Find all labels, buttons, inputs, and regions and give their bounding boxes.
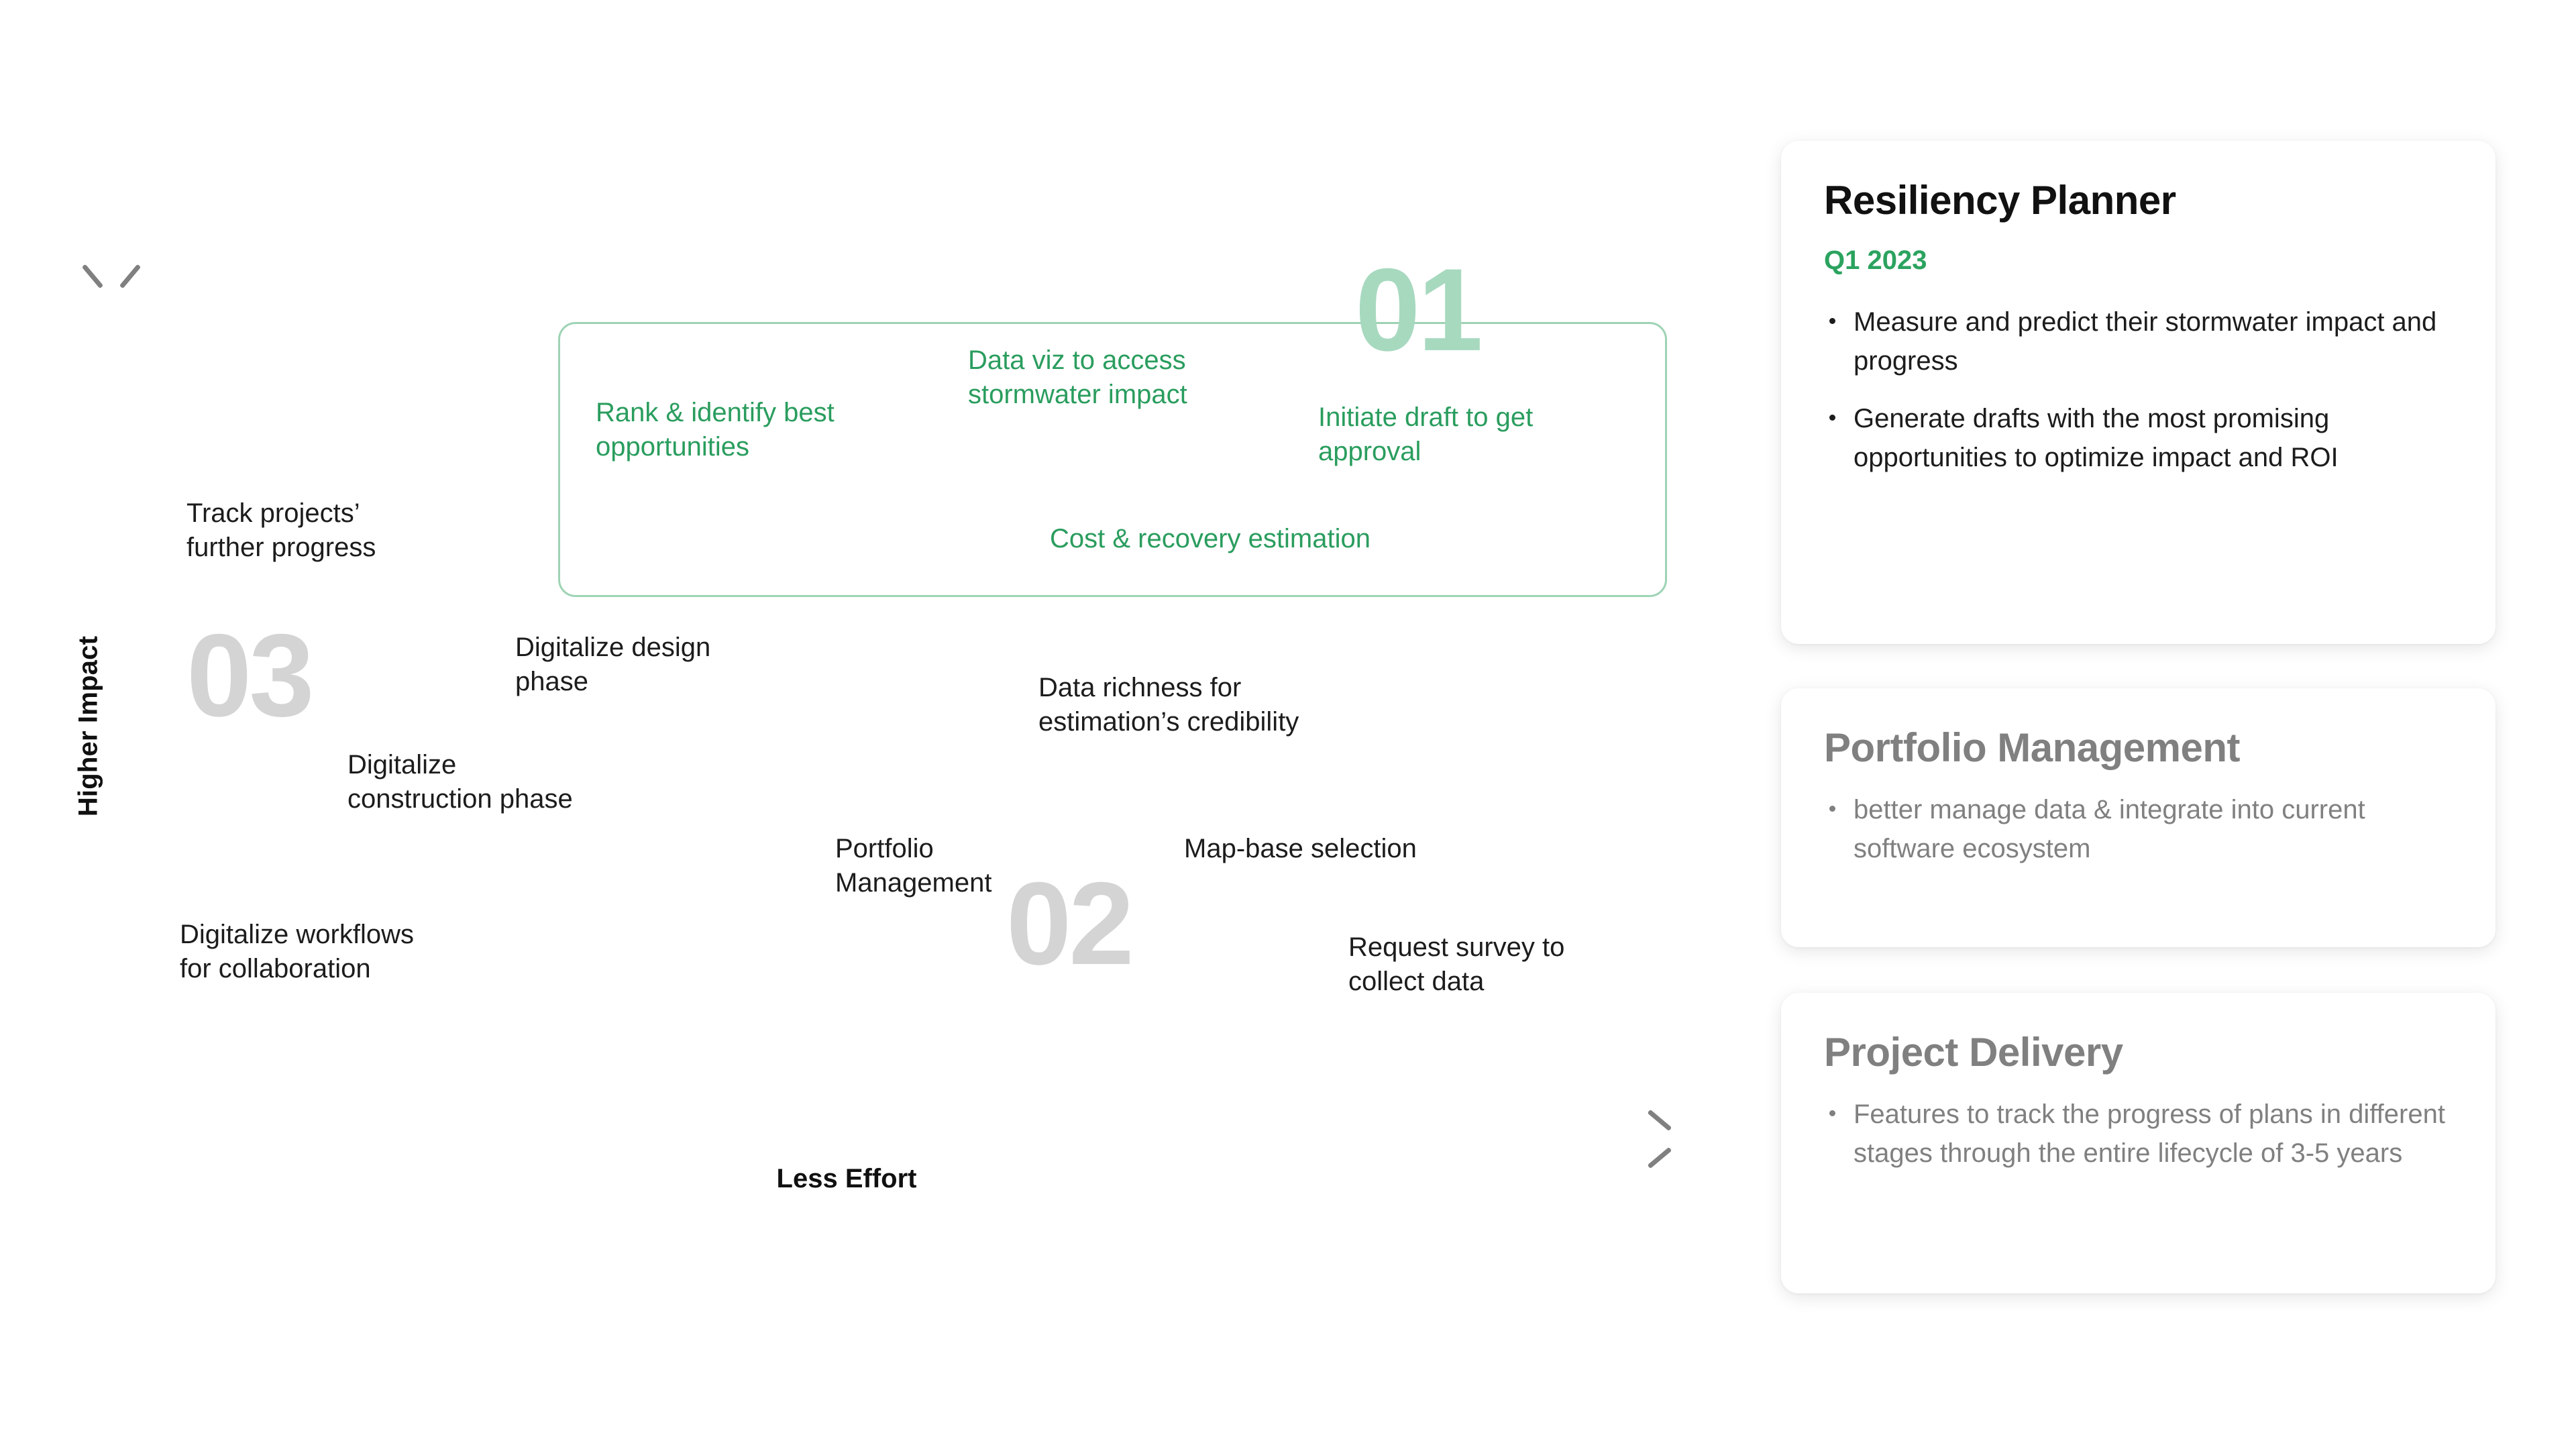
y-axis-line <box>0 0 5 872</box>
y-axis-arrow-icon <box>93 256 130 294</box>
x-axis-label: Less Effort <box>645 1164 1048 1194</box>
list-item: Features to track the progress of plans … <box>1824 1095 2453 1173</box>
card-title-portfolio: Portfolio Management <box>1824 726 2453 770</box>
card-bullet-list-delivery: Features to track the progress of plans … <box>1824 1095 2453 1173</box>
matrix-item-data-richness[interactable]: Data richness for estimation’s credibili… <box>1038 671 1299 739</box>
group-number-01: 01 <box>1355 252 1481 369</box>
group-number-03: 03 <box>186 617 312 735</box>
x-axis-arrow-icon <box>1640 1120 1677 1158</box>
y-axis-label: Higher Impact <box>74 612 104 841</box>
card-title-resiliency: Resiliency Planner <box>1824 178 2453 223</box>
card-resiliency-planner[interactable]: Resiliency Planner Q1 2023 Measure and p… <box>1781 141 2495 644</box>
impact-effort-matrix: Higher Impact Less Effort 03 02 Track pr… <box>0 0 1744 1449</box>
matrix-item-digitalize-construction[interactable]: Digitalize construction phase <box>347 748 573 816</box>
bullet-dot-icon <box>1829 806 1835 812</box>
card-bullet-list-resiliency: Measure and predict their stormwater imp… <box>1824 303 2453 477</box>
matrix-item-track-projects[interactable]: Track projects’ further progress <box>186 496 376 565</box>
list-item-text: Features to track the progress of plans … <box>1854 1099 2445 1168</box>
list-item-text: Generate drafts with the most promising … <box>1854 404 2339 472</box>
x-axis-line <box>0 872 1570 877</box>
card-project-delivery[interactable]: Project Delivery Features to track the p… <box>1781 993 2495 1293</box>
matrix-item-digitalize-workflows[interactable]: Digitalize workflows for collaboration <box>180 918 414 986</box>
bullet-dot-icon <box>1829 415 1835 421</box>
card-title-delivery: Project Delivery <box>1824 1030 2453 1075</box>
summary-cards-panel: Resiliency Planner Q1 2023 Measure and p… <box>1781 0 2495 1449</box>
matrix-item-initiate-draft[interactable]: Initiate draft to get approval <box>1318 400 1533 469</box>
matrix-item-data-viz[interactable]: Data viz to access stormwater impact <box>968 343 1187 412</box>
card-portfolio-management[interactable]: Portfolio Management better manage data … <box>1781 688 2495 947</box>
bullet-dot-icon <box>1829 318 1835 324</box>
group-number-02-overlay: 02 <box>1006 865 1132 983</box>
matrix-item-rank-identify[interactable]: Rank & identify best opportunities <box>596 396 835 464</box>
matrix-item-digitalize-design[interactable]: Digitalize design phase <box>515 631 710 699</box>
list-item-text: better manage data & integrate into curr… <box>1854 795 2365 863</box>
list-item-text: Measure and predict their stormwater imp… <box>1854 307 2436 376</box>
card-subtitle-quarter: Q1 2023 <box>1824 246 2453 276</box>
matrix-item-map-base-selection[interactable]: Map-base selection <box>1184 832 1417 866</box>
list-item: better manage data & integrate into curr… <box>1824 790 2453 868</box>
card-bullet-list-portfolio: better manage data & integrate into curr… <box>1824 790 2453 868</box>
matrix-item-portfolio-management[interactable]: Portfolio Management <box>835 832 991 900</box>
matrix-item-request-survey[interactable]: Request survey to collect data <box>1348 930 1564 999</box>
matrix-item-cost-recovery[interactable]: Cost & recovery estimation <box>1050 522 1371 556</box>
bullet-dot-icon <box>1829 1110 1835 1116</box>
list-item: Measure and predict their stormwater imp… <box>1824 303 2453 380</box>
list-item: Generate drafts with the most promising … <box>1824 399 2453 477</box>
